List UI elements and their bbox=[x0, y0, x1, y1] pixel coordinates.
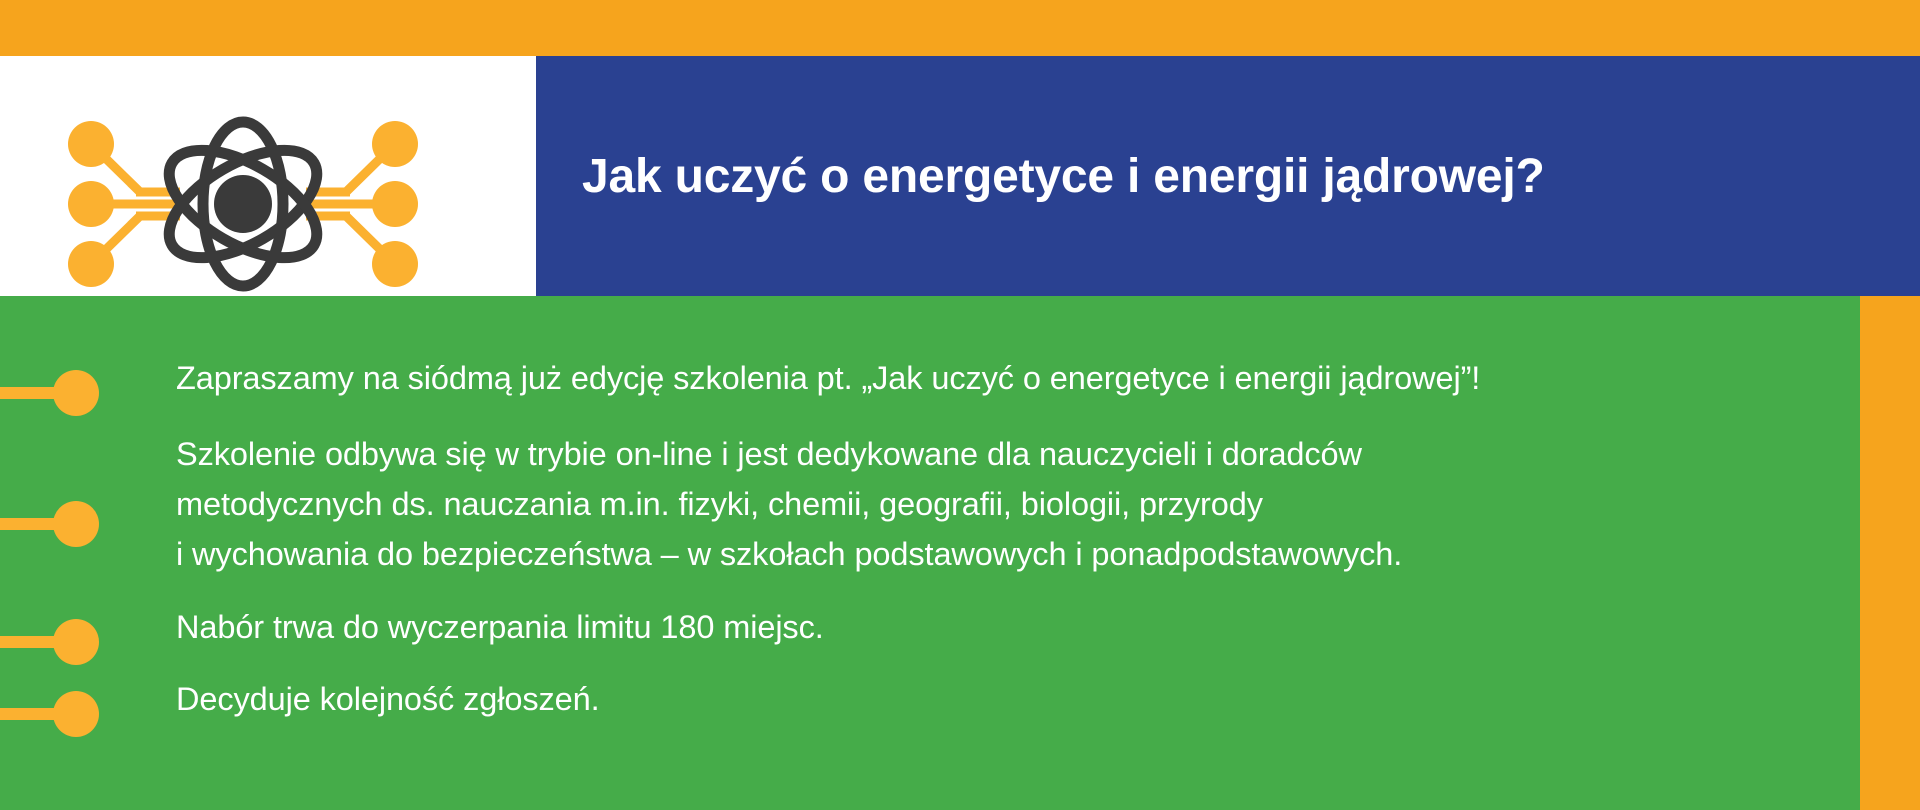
page-title: Jak uczyć o energetyce i energii jądrowe… bbox=[582, 149, 1545, 204]
logo-panel bbox=[0, 56, 536, 296]
list-item-text: Nabór trwa do wyczerpania limitu 180 mie… bbox=[176, 602, 824, 652]
bullet-circle bbox=[53, 619, 99, 665]
bullet-list: Zapraszamy na siódmą już edycję szkoleni… bbox=[0, 296, 1860, 810]
atom-nucleus-icon bbox=[214, 175, 272, 233]
atom-icon bbox=[58, 114, 428, 294]
title-panel: Jak uczyć o energetyce i energii jądrowe… bbox=[536, 56, 1920, 296]
top-orange-band bbox=[0, 0, 1920, 56]
list-item-text: Szkolenie odbywa się w trybie on-line i … bbox=[176, 429, 1402, 579]
bullet-circle bbox=[53, 501, 99, 547]
bullet-circle bbox=[53, 370, 99, 416]
list-item-text: Zapraszamy na siódmą już edycję szkoleni… bbox=[176, 353, 1480, 403]
bullet-dot-icon bbox=[0, 691, 120, 737]
header-row: Jak uczyć o energetyce i energii jądrowe… bbox=[0, 56, 1920, 296]
right-orange-band bbox=[1860, 296, 1920, 810]
poster-banner: Jak uczyć o energetyce i energii jądrowe… bbox=[0, 0, 1920, 810]
bullet-dot-icon bbox=[0, 619, 120, 665]
bullet-dot-icon bbox=[0, 501, 120, 547]
bullet-circle bbox=[53, 691, 99, 737]
list-item-text: Decyduje kolejność zgłoszeń. bbox=[176, 674, 600, 724]
bullet-dot-icon bbox=[0, 370, 120, 416]
